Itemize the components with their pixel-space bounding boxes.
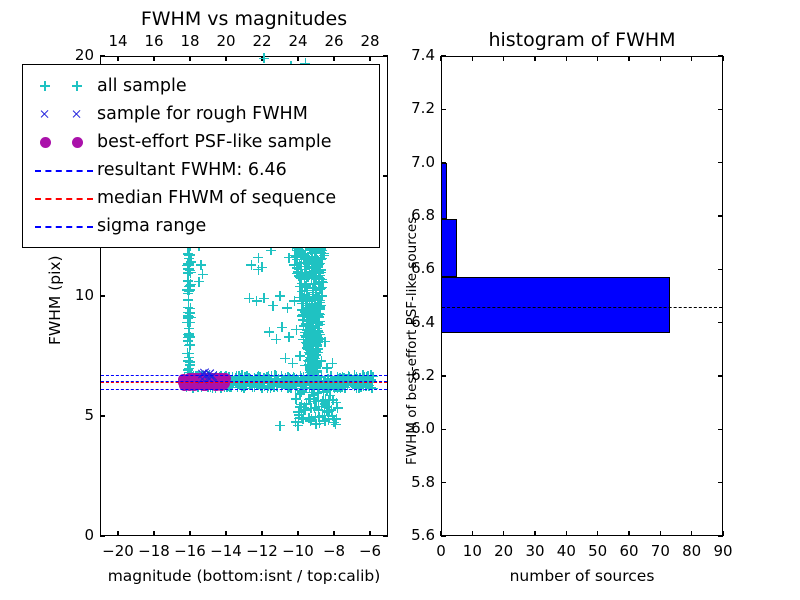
hist-y-tick-mark-right [718,535,723,536]
hist-y-tick-label: 7.4 [393,46,435,64]
y-tick-label: 20 [48,46,94,64]
legend-item: best-effort PSF-like sample [31,128,369,156]
y-tick-label: 10 [48,286,94,304]
y-tick-mark-right [383,535,388,536]
hist-y-tick-mark-right [718,482,723,483]
x-tick-label-top: 28 [348,32,392,50]
legend-marker-dashed [35,198,93,200]
hist-y-tick-label: 7.0 [393,153,435,171]
hist-y-tick-mark [441,375,446,376]
reference-line-dashdot [101,389,387,390]
y-tick-mark-left [100,295,105,296]
hist-y-tick-mark [441,429,446,430]
legend-key [31,104,97,124]
legend-marker-dashdot [35,226,93,228]
hist-y-tick-mark-right [718,55,723,56]
hist-x-tick-mark [503,531,504,536]
x-tick-mark-top [333,56,334,61]
reference-line-dashed [101,382,387,383]
legend-item-label: sample for rough FWHM [97,104,308,124]
legend-key [31,160,97,180]
left-panel-xlabel: magnitude (bottom:isnt / top:calib) [100,567,388,585]
y-tick-mark-left [100,415,105,416]
x-tick-mark-top [117,56,118,61]
hist-x-tick-mark-top [472,56,473,61]
hist-y-tick-label: 6.6 [393,259,435,277]
x-tick-mark-bottom [225,531,226,536]
legend-item: all sample [31,72,369,100]
hist-x-tick-mark-top [597,56,598,61]
legend-marker-dashed [35,170,93,172]
x-tick-mark-bottom [333,531,334,536]
legend-item-label: all sample [97,76,187,96]
y-tick-mark-left [100,55,105,56]
hist-y-tick-mark-right [718,322,723,323]
legend-marker-plus [72,81,82,91]
hist-y-tick-mark-right [718,215,723,216]
x-tick-mark-top [261,56,262,61]
hist-x-tick-mark-top [440,56,441,61]
hist-y-tick-mark-right [718,375,723,376]
x-tick-mark-top [225,56,226,61]
hist-x-tick-mark-top [691,56,692,61]
hist-y-tick-mark-right [718,162,723,163]
hist-x-tick-mark [534,531,535,536]
hist-y-tick-label: 7.2 [393,99,435,117]
hist-x-tick-mark-top [722,56,723,61]
hist-x-tick-mark-top [566,56,567,61]
hist-y-tick-label: 6.4 [393,313,435,331]
y-tick-mark-left [100,535,105,536]
hist-y-tick-label: 6.0 [393,419,435,437]
legend-marker-dot [40,137,51,148]
x-tick-mark-bottom [117,531,118,536]
x-tick-mark-bottom [261,531,262,536]
x-tick-mark-bottom [189,531,190,536]
hist-y-tick-mark-right [718,109,723,110]
hist-y-tick-mark [441,482,446,483]
legend-key [31,188,97,208]
y-tick-label: 5 [48,406,94,424]
hist-y-tick-label: 6.2 [393,366,435,384]
legend-item: sample for rough FWHM [31,100,369,128]
hist-median-line [442,307,722,308]
reference-line-dashdot [101,375,387,376]
hist-y-tick-mark-right [718,269,723,270]
histogram-bar [441,219,457,278]
hist-x-tick-mark [660,531,661,536]
legend-item-label: resultant FWHM: 6.46 [97,160,287,180]
hist-x-tick-mark-top [534,56,535,61]
hist-y-tick-mark [441,55,446,56]
hist-x-tick-label: 90 [703,542,743,560]
legend-marker-x [40,109,50,119]
legend-item-label: best-effort PSF-like sample [97,132,332,152]
x-tick-mark-top [369,56,370,61]
right-panel-xlabel: number of sources [441,567,723,585]
legend-marker-plus [40,81,50,91]
right-panel-title: histogram of FWHM [441,29,723,51]
y-tick-mark-right [383,55,388,56]
x-tick-mark-bottom [369,531,370,536]
x-tick-mark-bottom [297,531,298,536]
figure-canvas: FWHM vs magnitudes FWHM (pix) magnitude … [0,0,800,600]
legend-key [31,216,97,236]
histogram-bar [441,163,447,219]
hist-y-tick-mark-right [718,429,723,430]
legend-marker-x [72,109,82,119]
y-tick-mark-right [383,415,388,416]
legend-item-label: sigma range [97,216,206,236]
legend: all samplesample for rough FWHMbest-effo… [22,64,380,248]
left-panel-title: FWHM vs magnitudes [100,8,388,30]
histogram-bar [441,277,670,333]
x-tick-mark-top [153,56,154,61]
hist-y-tick-mark [441,535,446,536]
hist-y-tick-mark [441,109,446,110]
hist-y-tick-label: 5.8 [393,473,435,491]
hist-x-tick-mark [628,531,629,536]
hist-x-tick-mark-top [628,56,629,61]
legend-marker-dot [72,137,83,148]
x-tick-mark-top [189,56,190,61]
legend-item: resultant FWHM: 6.46 [31,156,369,184]
legend-key [31,76,97,96]
hist-x-tick-mark [566,531,567,536]
legend-item: median FHWM of sequence [31,184,369,212]
legend-item-label: median FHWM of sequence [97,188,336,208]
x-tick-mark-bottom [153,531,154,536]
hist-y-tick-label: 6.8 [393,206,435,224]
hist-y-tick-label: 5.6 [393,526,435,544]
legend-item: sigma range [31,212,369,240]
y-tick-label: 0 [48,526,94,544]
hist-x-tick-mark-top [503,56,504,61]
y-tick-mark-right [383,295,388,296]
hist-x-tick-mark [691,531,692,536]
x-tick-label-bottom: −6 [348,542,392,560]
hist-x-tick-mark [472,531,473,536]
legend-key [31,132,97,152]
y-tick-mark-minor [383,175,388,176]
hist-x-tick-mark-top [660,56,661,61]
x-tick-mark-top [297,56,298,61]
hist-x-tick-mark [597,531,598,536]
